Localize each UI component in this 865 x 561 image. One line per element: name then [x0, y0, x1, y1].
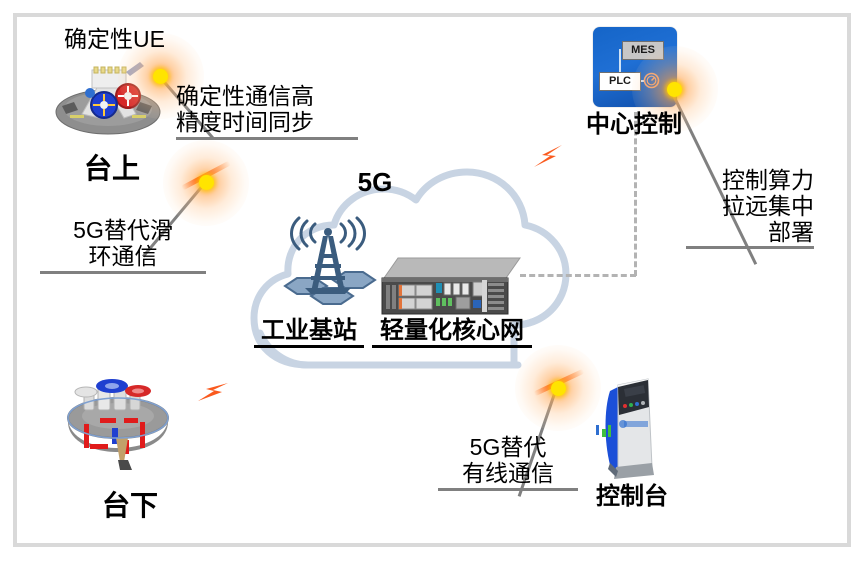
central-control-box[interactable]: MES PLC — [593, 27, 677, 107]
base-station-label: 工业基站 — [254, 318, 364, 348]
cell-tower-icon — [275, 218, 385, 313]
mes-chip[interactable]: MES — [622, 41, 664, 60]
glow-core-slipring — [199, 175, 214, 190]
label-deterministic-sync: 确定性通信高 精度时间同步 — [176, 84, 358, 140]
label-wired-replace: 5G替代 有线通信 — [438, 435, 578, 491]
gauge-icon — [643, 72, 660, 89]
cloud-title: 5G — [330, 168, 420, 197]
lightning-bolt-icon-upper — [528, 143, 568, 169]
glow-core-wired — [551, 381, 566, 396]
diagram-canvas: 5G — [0, 0, 865, 561]
label-stage-top: 台上 — [62, 153, 162, 184]
core-network-label: 轻量化核心网 — [372, 318, 532, 348]
rotary-machine-icon-top — [48, 60, 166, 138]
plc-chip[interactable]: PLC — [599, 72, 641, 91]
console-kiosk-icon — [602, 375, 660, 481]
lightning-bolt-icon-lower — [192, 379, 232, 405]
label-central-control: 中心控制 — [569, 112, 699, 139]
label-deterministic-ue: 确定性UE — [64, 27, 244, 53]
label-slipring-replace: 5G替代滑 环通信 — [40, 218, 206, 274]
glow-core-central-control — [667, 82, 682, 97]
dashed-link-horizontal — [520, 274, 636, 277]
label-stage-bottom: 台下 — [80, 490, 180, 521]
rotary-machine-icon-bottom — [62, 378, 174, 474]
rack-server-icon — [378, 252, 522, 320]
label-console: 控制台 — [578, 484, 686, 511]
glow-core-deterministic-ue — [153, 69, 168, 84]
label-remote-compute: 控制算力 拉远集中 部署 — [686, 168, 814, 249]
